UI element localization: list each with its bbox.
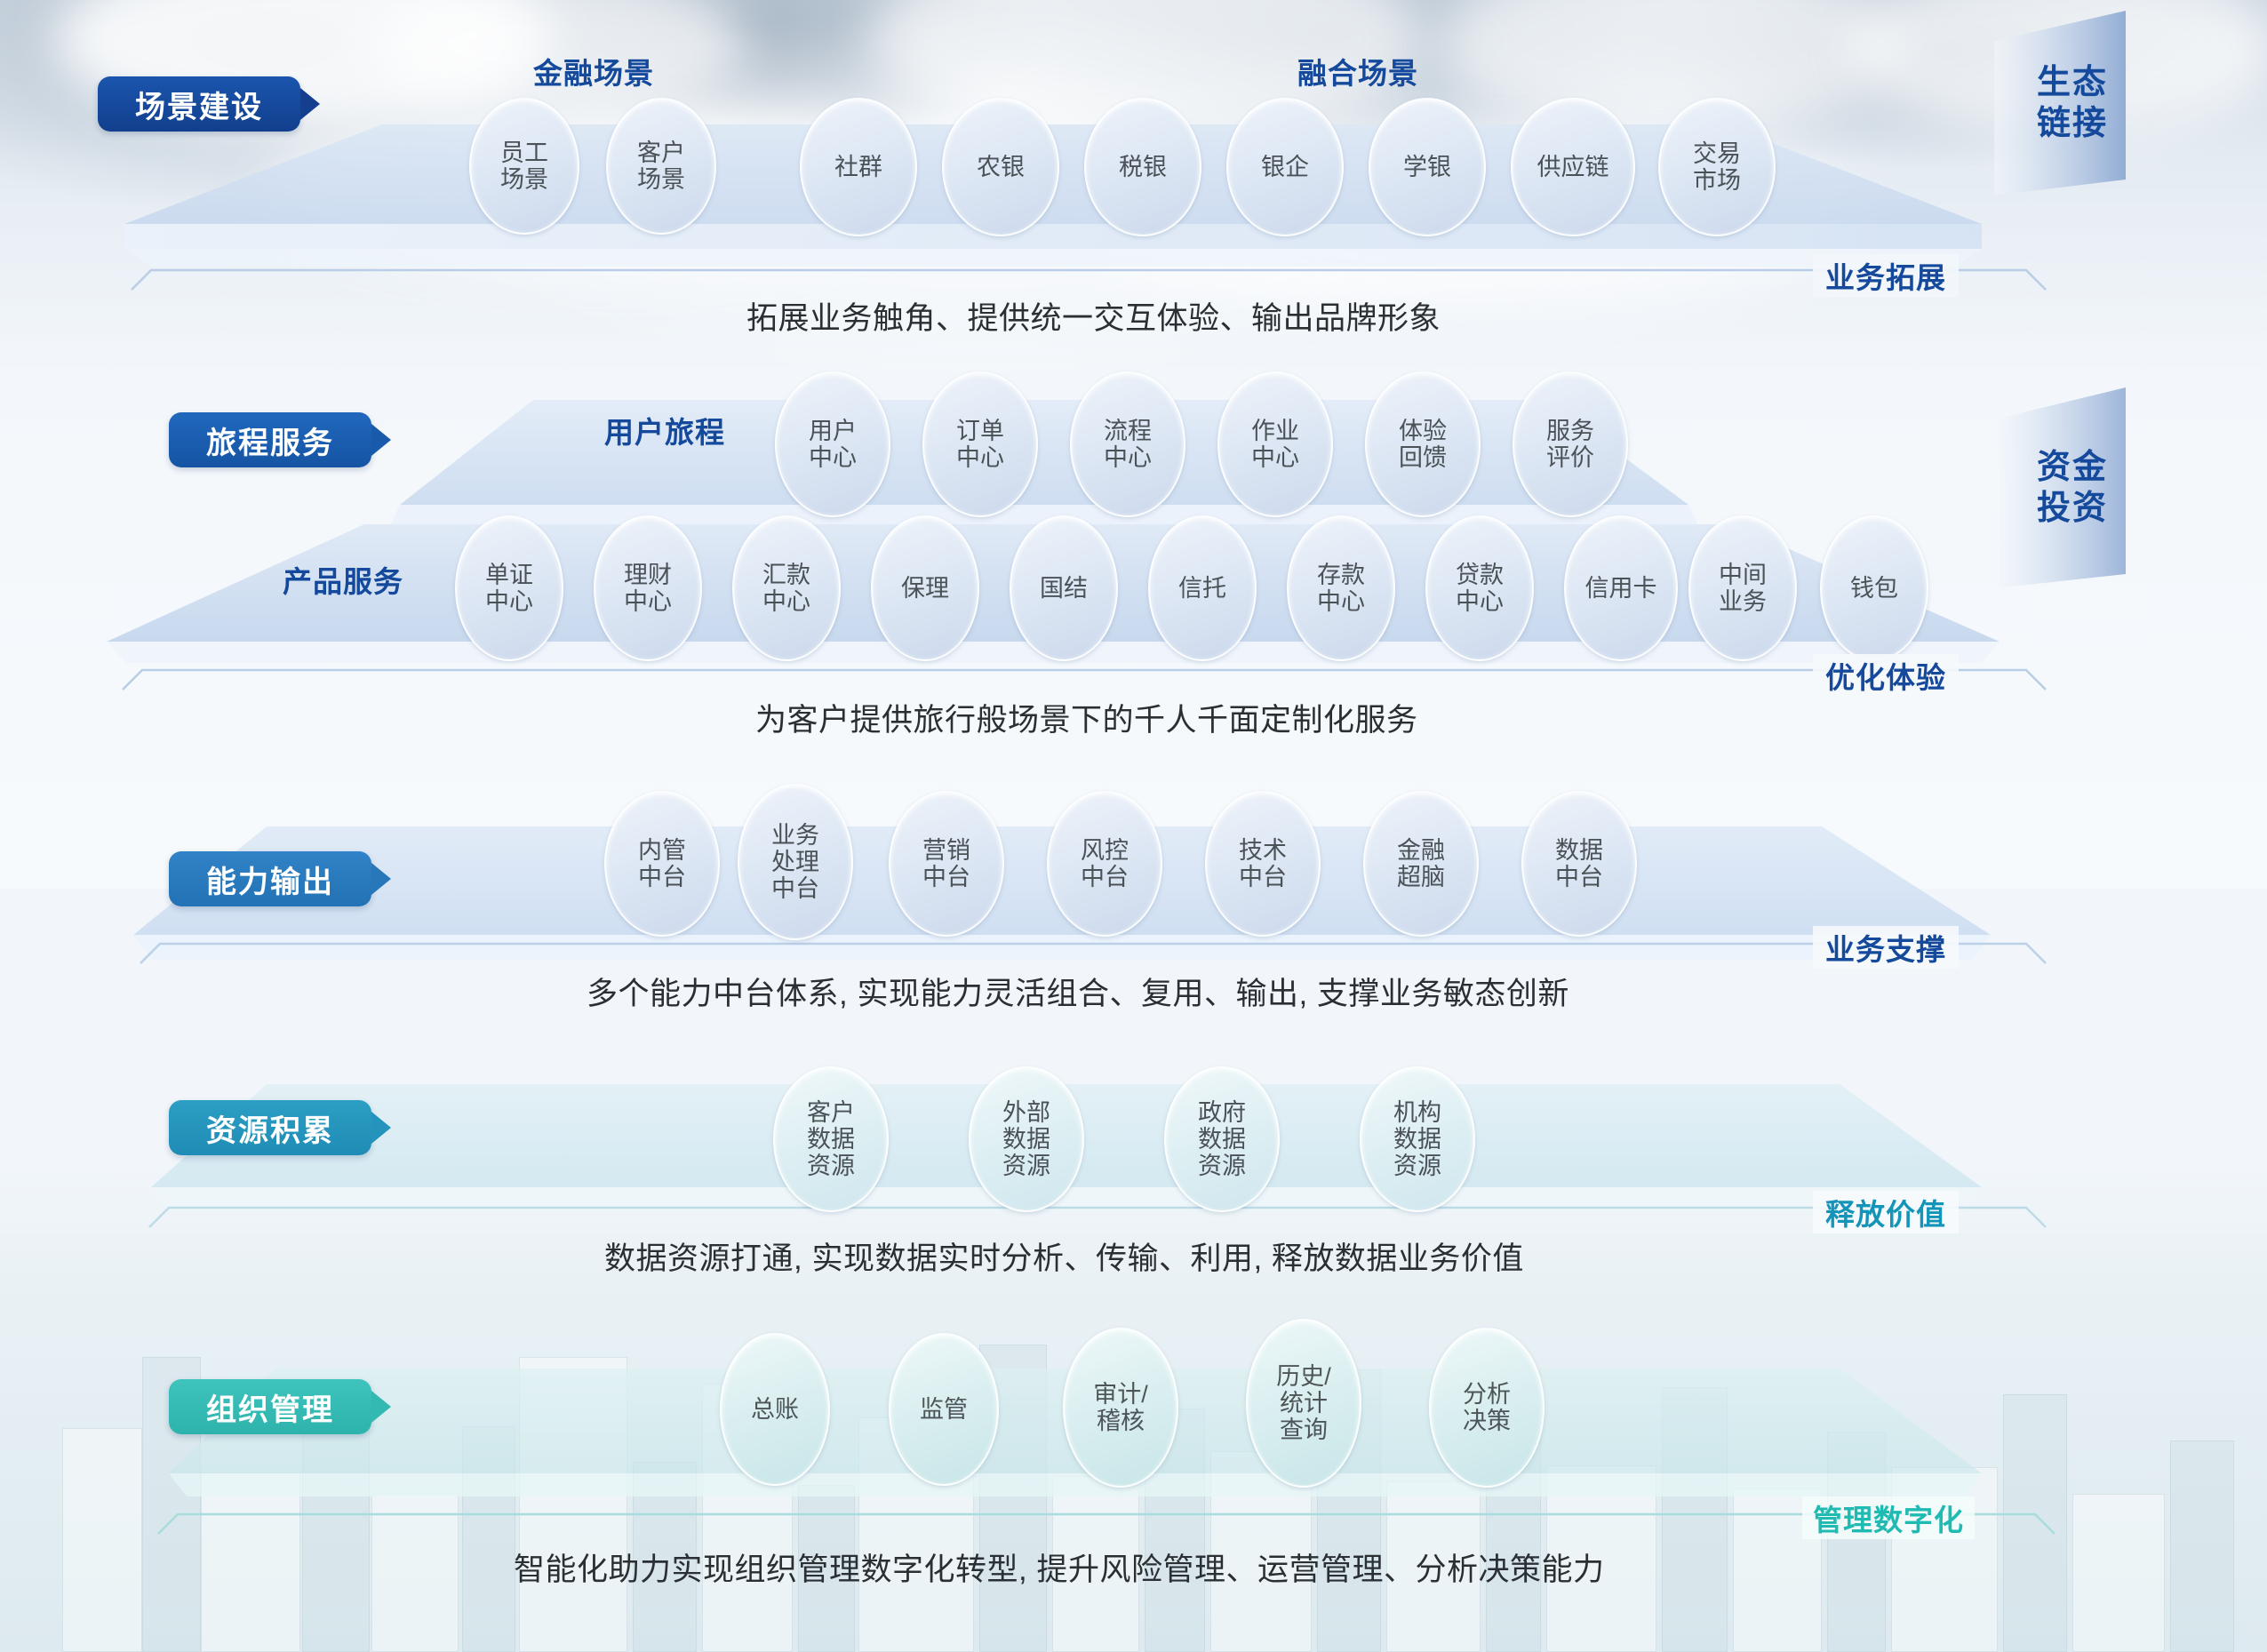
rail-label-business-support: 业务支撑 — [1813, 926, 1959, 969]
node-scene-1[interactable]: 客户场景 — [606, 98, 716, 235]
node-label: 客户数据资源 — [803, 1099, 858, 1180]
node-capability-0[interactable]: 内管中台 — [604, 791, 720, 937]
node-product-5[interactable]: 信托 — [1148, 515, 1257, 661]
rail-scene — [124, 267, 2053, 297]
node-scene-8[interactable]: 交易市场 — [1658, 98, 1776, 236]
node-label: 体验回馈 — [1395, 418, 1450, 471]
node-label: 交易市场 — [1689, 140, 1744, 194]
caption-resource: 数据资源打通, 实现数据实时分析、传输、利用, 释放数据业务价值 — [604, 1233, 1524, 1279]
node-scene-7[interactable]: 供应链 — [1511, 98, 1635, 236]
node-label: 学银 — [1400, 154, 1455, 180]
node-capability-6[interactable]: 数据中台 — [1521, 791, 1637, 937]
banner-line1: 生态 — [2037, 62, 2108, 103]
pill-scene-construction[interactable]: 场景建设 — [98, 76, 300, 132]
node-label: 外部数据资源 — [999, 1099, 1054, 1180]
node-label: 政府数据资源 — [1194, 1099, 1249, 1180]
node-label: 风控中台 — [1077, 837, 1132, 890]
node-product-1[interactable]: 理财中心 — [594, 515, 702, 661]
node-label: 存款中心 — [1313, 562, 1369, 615]
node-product-10[interactable]: 钱包 — [1820, 515, 1928, 661]
pill-scene-label: 场景建设 — [135, 83, 263, 126]
node-label: 监管 — [916, 1396, 971, 1423]
rail-label-optimize-experience: 优化体验 — [1813, 654, 1959, 697]
node-label: 农银 — [973, 154, 1028, 180]
node-capability-1[interactable]: 业务处理中台 — [738, 784, 853, 940]
node-label: 中间业务 — [1715, 562, 1770, 615]
node-label: 信托 — [1175, 575, 1230, 602]
node-organization-0[interactable]: 总账 — [720, 1333, 830, 1486]
banner-line2: 链接 — [2037, 103, 2108, 144]
node-label: 用户中心 — [805, 418, 860, 471]
node-label: 审计/稽核 — [1090, 1381, 1152, 1434]
node-scene-3[interactable]: 农银 — [942, 98, 1059, 236]
pill-arrow-icon — [300, 88, 320, 120]
node-organization-2[interactable]: 审计/稽核 — [1063, 1328, 1178, 1488]
node-label: 营销中台 — [919, 837, 974, 890]
row-label-product-service: 产品服务 — [283, 558, 403, 601]
pill-arrow-icon — [371, 1112, 391, 1144]
rail-organization — [151, 1511, 2062, 1541]
node-label: 供应链 — [1534, 154, 1613, 180]
node-label: 订单中心 — [953, 418, 1008, 471]
banner-fund-text: 资金 投资 — [2037, 447, 2108, 530]
node-capability-4[interactable]: 技术中台 — [1205, 791, 1321, 937]
pill-capability-output[interactable]: 能力输出 — [169, 851, 371, 906]
node-label: 技术中台 — [1235, 837, 1290, 890]
banner-fund-investment: 资金 投资 — [1975, 387, 2181, 588]
pill-resource-accumulation[interactable]: 资源积累 — [169, 1100, 371, 1155]
node-label: 金融超脑 — [1393, 837, 1449, 890]
node-label: 贷款中心 — [1452, 562, 1507, 615]
node-resource-2[interactable]: 政府数据资源 — [1164, 1066, 1280, 1212]
node-product-8[interactable]: 信用卡 — [1564, 515, 1678, 661]
rail-label-release-value: 释放价值 — [1813, 1191, 1959, 1233]
node-resource-0[interactable]: 客户数据资源 — [773, 1066, 889, 1212]
node-label: 流程中心 — [1100, 418, 1155, 471]
node-product-3[interactable]: 保理 — [871, 515, 979, 661]
node-label: 数据中台 — [1552, 837, 1607, 890]
node-label: 服务评价 — [1543, 418, 1598, 471]
node-resource-3[interactable]: 机构数据资源 — [1360, 1066, 1475, 1212]
node-capability-2[interactable]: 营销中台 — [889, 791, 1004, 937]
node-product-6[interactable]: 存款中心 — [1287, 515, 1395, 661]
node-label: 机构数据资源 — [1390, 1099, 1445, 1180]
node-organization-3[interactable]: 历史/统计查询 — [1246, 1319, 1361, 1488]
node-label: 员工场景 — [497, 140, 552, 193]
node-label: 信用卡 — [1582, 575, 1661, 602]
banner-line2: 投资 — [2037, 488, 2108, 529]
node-label: 总账 — [747, 1396, 802, 1423]
node-label: 分析决策 — [1459, 1381, 1514, 1434]
pill-organization-label: 组织管理 — [206, 1385, 334, 1429]
node-label: 理财中心 — [620, 562, 675, 615]
node-label: 单证中心 — [482, 562, 537, 615]
pill-organization-management[interactable]: 组织管理 — [169, 1379, 371, 1434]
node-label: 汇款中心 — [759, 562, 814, 615]
banner-eco-connection: 生态 链接 — [1975, 11, 2181, 196]
pill-journey-label: 旅程服务 — [206, 419, 334, 462]
node-journey-4[interactable]: 体验回馈 — [1365, 371, 1481, 517]
node-resource-1[interactable]: 外部数据资源 — [969, 1066, 1084, 1212]
caption-product: 为客户提供旅行般场景下的千人千面定制化服务 — [755, 695, 1418, 740]
node-label: 客户场景 — [634, 140, 689, 193]
pill-resource-label: 资源积累 — [206, 1106, 334, 1150]
node-organization-1[interactable]: 监管 — [889, 1333, 999, 1486]
node-label: 钱包 — [1847, 575, 1902, 602]
node-scene-0[interactable]: 员工场景 — [469, 98, 579, 235]
pill-arrow-icon — [371, 863, 391, 895]
node-organization-4[interactable]: 分析决策 — [1429, 1328, 1545, 1488]
node-product-2[interactable]: 汇款中心 — [732, 515, 841, 661]
node-product-7[interactable]: 贷款中心 — [1425, 515, 1534, 661]
pill-journey-service[interactable]: 旅程服务 — [169, 412, 371, 467]
pill-capability-label: 能力输出 — [206, 858, 334, 901]
category-fusion-scene: 融合场景 — [1297, 50, 1418, 92]
node-scene-5[interactable]: 银企 — [1226, 98, 1344, 236]
node-journey-3[interactable]: 作业中心 — [1217, 371, 1333, 517]
node-label: 国结 — [1036, 575, 1091, 602]
architecture-diagram: 场景建设 金融场景 融合场景 员工场景 客户场景 社群 农银 税银 银企 学银 … — [0, 0, 2267, 1652]
node-product-9[interactable]: 中间业务 — [1688, 515, 1797, 661]
node-scene-2[interactable]: 社群 — [800, 98, 917, 236]
pill-arrow-icon — [371, 1391, 391, 1423]
node-journey-2[interactable]: 流程中心 — [1070, 371, 1185, 517]
node-journey-0[interactable]: 用户中心 — [775, 371, 890, 517]
node-label: 作业中心 — [1248, 418, 1303, 471]
pill-arrow-icon — [371, 424, 391, 456]
node-label: 社群 — [831, 154, 886, 180]
banner-eco-text: 生态 链接 — [2037, 62, 2108, 145]
node-label: 保理 — [898, 575, 953, 602]
node-label: 税银 — [1115, 154, 1170, 180]
rail-resource — [142, 1204, 2053, 1234]
caption-capability: 多个能力中台体系, 实现能力灵活组合、复用、输出, 支撑业务敏态创新 — [587, 969, 1569, 1014]
node-journey-1[interactable]: 订单中心 — [922, 371, 1038, 517]
caption-organization: 智能化助力实现组织管理数字化转型, 提升风险管理、运营管理、分析决策能力 — [514, 1544, 1604, 1590]
rail-product — [116, 666, 2053, 697]
node-capability-5[interactable]: 金融超脑 — [1363, 791, 1479, 937]
banner-line1: 资金 — [2037, 447, 2108, 488]
node-scene-4[interactable]: 税银 — [1084, 98, 1201, 236]
node-product-0[interactable]: 单证中心 — [455, 515, 563, 661]
rail-capability — [133, 940, 2053, 970]
caption-scene: 拓展业务触角、提供统一交互体验、输出品牌形象 — [746, 293, 1441, 339]
node-journey-5[interactable]: 服务评价 — [1513, 371, 1628, 517]
rail-label-management-digitalization: 管理数字化 — [1802, 1496, 1975, 1539]
node-scene-6[interactable]: 学银 — [1369, 98, 1486, 236]
node-label: 银企 — [1257, 154, 1313, 180]
row-label-user-journey: 用户旅程 — [604, 409, 725, 451]
rail-label-business-expansion: 业务拓展 — [1813, 254, 1959, 297]
node-label: 内管中台 — [635, 837, 690, 890]
node-label: 业务处理中台 — [768, 822, 823, 903]
node-label: 历史/统计查询 — [1273, 1363, 1335, 1444]
node-product-4[interactable]: 国结 — [1010, 515, 1118, 661]
node-capability-3[interactable]: 风控中台 — [1047, 791, 1162, 937]
category-financial-scene: 金融场景 — [533, 50, 654, 92]
